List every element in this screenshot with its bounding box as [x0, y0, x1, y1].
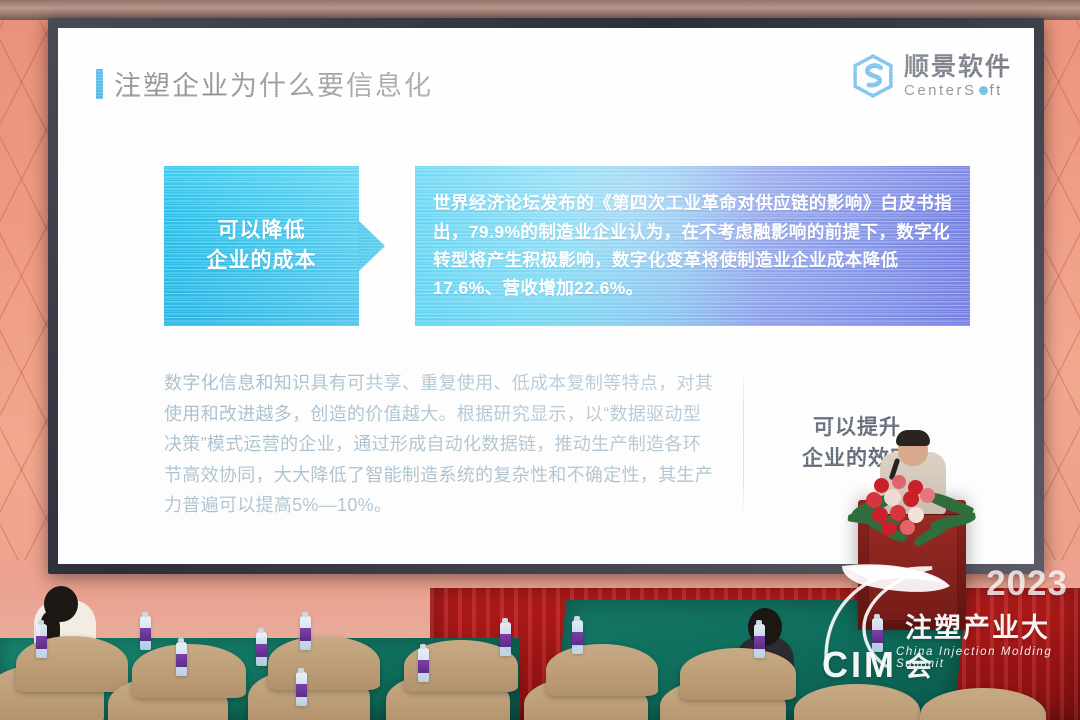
water-bottle-2: [140, 616, 151, 650]
chair-10: [546, 644, 658, 696]
water-bottle-cap-6: [298, 668, 304, 673]
water-bottle-cap-8: [502, 618, 508, 623]
water-bottle-cap-10: [756, 620, 762, 625]
water-bottle-cap-11: [874, 614, 880, 619]
water-bottle-3: [176, 642, 187, 676]
water-bottle-cap-9: [574, 616, 580, 621]
water-bottle-9: [572, 620, 583, 654]
water-bottle-1: [36, 624, 47, 658]
water-bottle-cap-4: [258, 628, 264, 633]
brand-logo-text: 顺景软件 CenterS ft: [904, 55, 1012, 98]
chair-4: [132, 644, 246, 698]
water-bottle-cap-7: [420, 644, 426, 649]
water-bottle-10: [754, 624, 765, 658]
water-bottle-cap-3: [178, 638, 184, 643]
brand-logo: 顺景软件 CenterS ft: [851, 54, 1012, 98]
water-bottle-cap-1: [38, 620, 44, 625]
lower-paragraph: 数字化信息和知识具有可共享、重复使用、低成本复制等特点，对其使用和改进越多，创造…: [164, 368, 743, 518]
water-bottle-5: [300, 616, 311, 650]
water-bottle-11: [872, 618, 883, 652]
band-right-body: 世界经济论坛发布的《第四次工业革命对供应链的影响》白皮书指出，79.9%的制造业…: [415, 166, 970, 326]
brand-dot-icon: [979, 86, 988, 95]
ceiling-beam: [0, 0, 1080, 20]
podium-flower-arrangement: [848, 474, 976, 544]
water-bottle-6: [296, 672, 307, 706]
band-left-label-line1: 可以降低: [207, 216, 317, 246]
speaker-hair: [896, 430, 930, 446]
brand-name-en-part2: ft: [990, 83, 1003, 98]
brand-name-cn: 顺景软件: [904, 55, 1012, 80]
water-bottle-4: [256, 632, 267, 666]
band-body-text: 世界经济论坛发布的《第四次工业革命对供应链的影响》白皮书指出，79.9%的制造业…: [415, 189, 970, 302]
centersoft-hex-s-icon: [851, 54, 895, 98]
water-bottle-cap-5: [302, 612, 308, 617]
chair-2: [16, 636, 128, 692]
screenshot-stage: 注塑企业为什么要信息化 顺景软件 CenterS ft: [0, 0, 1080, 720]
water-bottle-7: [418, 648, 429, 682]
water-bottle-8: [500, 622, 511, 656]
brand-name-en-part1: CenterS: [904, 83, 977, 98]
brand-name-en: CenterS ft: [904, 83, 1012, 98]
page-title: 注塑企业为什么要信息化: [96, 64, 433, 103]
band-arrow-icon: [359, 166, 415, 326]
chair-6: [268, 636, 380, 690]
band-left-callout: 可以降低 企业的成本: [164, 166, 359, 326]
band-left-label: 可以降低 企业的成本: [207, 216, 317, 277]
water-bottle-cap-2: [142, 612, 148, 617]
title-accent-bar: [96, 69, 103, 99]
title-text: 注塑企业为什么要信息化: [114, 64, 433, 103]
chair-12: [680, 648, 796, 700]
band-left-label-line2: 企业的成本: [207, 246, 317, 276]
highlight-band: 可以降低 企业的成本 世界经济论坛发布的《第四次工业革命对供应链的影响》白皮书指…: [164, 166, 970, 326]
